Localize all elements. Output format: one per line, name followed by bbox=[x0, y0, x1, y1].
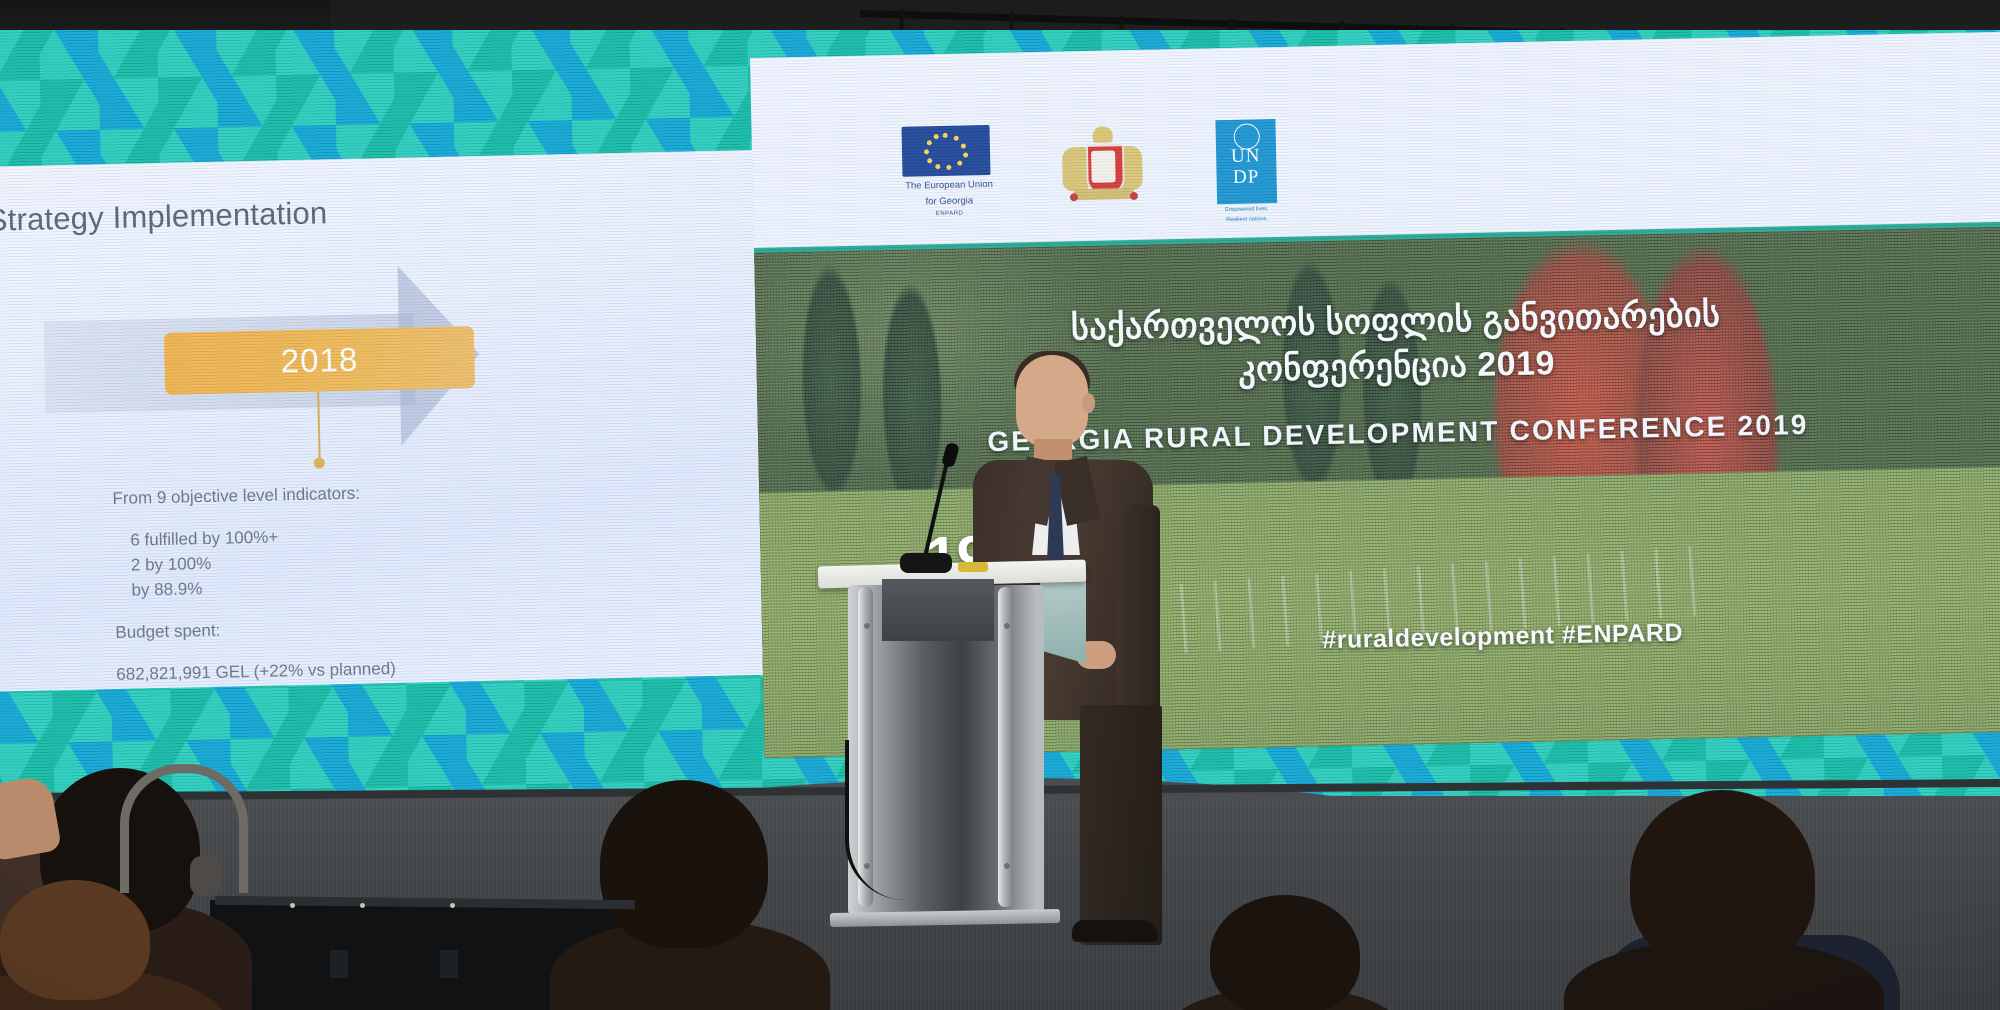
undp-caption-line-1: Empowered lives. bbox=[1210, 206, 1283, 215]
undp-caption-line-2: Resilient nations. bbox=[1211, 216, 1284, 225]
audience-member-right-back bbox=[1170, 895, 1400, 1010]
audience-member-long-hair bbox=[0, 880, 230, 1010]
undp-logo: UNDP Empowered lives. Resilient nations. bbox=[1209, 119, 1284, 225]
audience-member-far-right bbox=[1580, 790, 1860, 1010]
eu-flag-icon bbox=[901, 125, 990, 177]
connector-dot-2018 bbox=[314, 457, 325, 468]
motto-ribbon bbox=[1073, 188, 1133, 200]
console-indicator-light bbox=[360, 903, 365, 908]
eu-flag-logo: The European Union for Georgia ENPARD bbox=[901, 125, 995, 218]
eu-caption-line-1: The European Union bbox=[903, 179, 996, 193]
st-george-figure-icon bbox=[1091, 150, 1116, 182]
partner-logos: The European Union for Georgia ENPARD bbox=[901, 119, 1283, 219]
podium-rail-right bbox=[998, 587, 1013, 907]
audience-member-center bbox=[560, 780, 820, 1010]
console-bracket bbox=[440, 950, 458, 978]
headphone-earcup-icon bbox=[190, 856, 222, 896]
headphones-icon bbox=[120, 764, 248, 893]
georgia-coat-of-arms-logo bbox=[1054, 122, 1150, 214]
left-column-text: level indicators: d by 100% or 100%+; d … bbox=[0, 491, 41, 689]
year-chip-2018: 2018 bbox=[164, 326, 475, 395]
speaker-head bbox=[1016, 355, 1088, 447]
right-column-text: From 9 objective level indicators: 6 ful… bbox=[112, 476, 586, 687]
undp-mark-icon: UNDP bbox=[1215, 119, 1277, 204]
podium-cable bbox=[845, 740, 959, 900]
speaker-arm bbox=[1116, 505, 1160, 720]
microphone-base bbox=[900, 553, 952, 573]
speaker-ear bbox=[1082, 393, 1095, 413]
slide-strategy-results: ults of the Strategy Implementation 2017… bbox=[0, 150, 763, 697]
conference-scene: ults of the Strategy Implementation 2017… bbox=[0, 0, 2000, 1010]
eu-caption-enpard: ENPARD bbox=[903, 210, 996, 218]
console-indicator-light bbox=[290, 903, 295, 908]
undp-globe-icon bbox=[1233, 123, 1260, 150]
podium-shelf bbox=[882, 579, 994, 641]
eu-caption-line-2: for Georgia bbox=[903, 195, 996, 209]
console-bracket bbox=[330, 950, 348, 978]
crown-icon bbox=[1092, 126, 1112, 142]
conference-title-block: საქართველოს სოფლის განვითარების კონფერენ… bbox=[755, 286, 2000, 463]
left-col-budget-value: EL (+38.3% vs planned) bbox=[0, 654, 41, 689]
podium-base bbox=[830, 909, 1060, 927]
lion-supporter-left-icon bbox=[1062, 147, 1089, 192]
console-indicator-light bbox=[450, 903, 455, 908]
left-slide-title: ults of the Strategy Implementation bbox=[0, 195, 328, 242]
podium-marker-object bbox=[958, 562, 988, 572]
